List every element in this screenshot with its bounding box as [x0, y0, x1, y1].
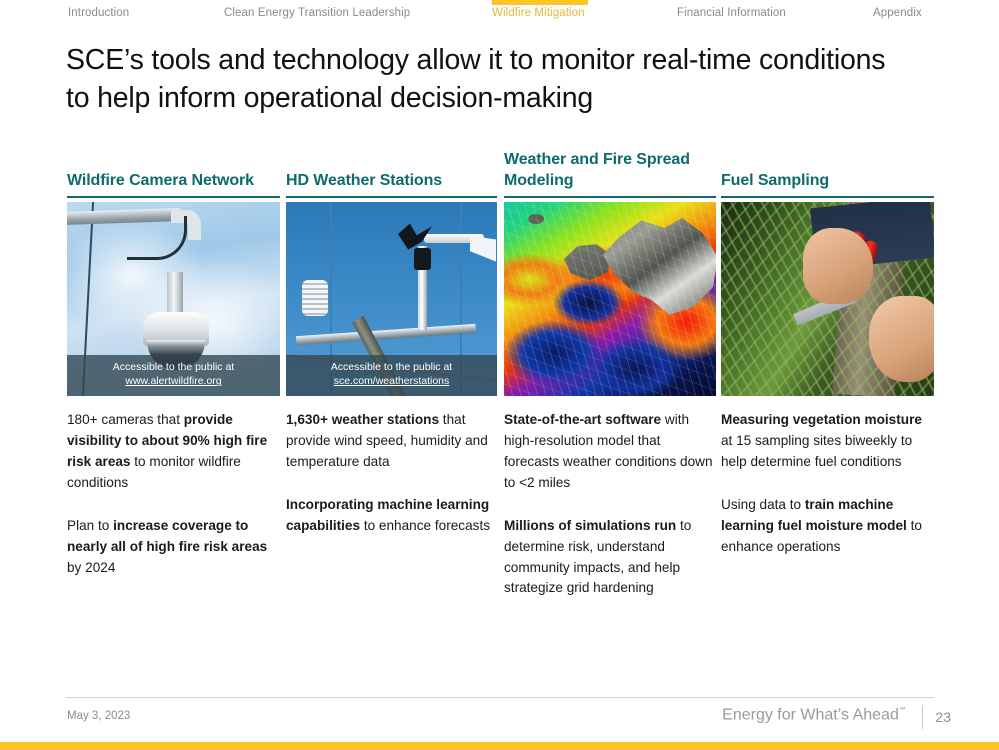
wind-vector-overlay — [504, 202, 716, 396]
caption-prefix: Accessible to the public at — [113, 361, 234, 373]
mast-joint-shape — [414, 248, 431, 270]
column-wildfire-camera-network: Wildfire Camera Network Accessible to th… — [67, 150, 280, 396]
nav-item-appendix[interactable]: Appendix — [873, 7, 922, 19]
column-fuel-sampling: Fuel Sampling — [721, 150, 934, 396]
nav-active-indicator — [492, 0, 588, 5]
body-paragraph: Measuring vegetation moisture at 15 samp… — [721, 410, 935, 473]
body-paragraph: Using data to train machine learning fue… — [721, 495, 935, 558]
body-text-hd-weather-stations: 1,630+ weather stations that provide win… — [286, 410, 498, 537]
radiation-shield-shape — [302, 280, 328, 316]
caption-link[interactable]: sce.com/weatherstations — [288, 374, 495, 388]
plain-text: to enhance forecasts — [360, 518, 490, 533]
plain-text: at 15 sampling sites biweekly to help de… — [721, 433, 912, 469]
wildfire-camera-photo: Accessible to the public at www.alertwil… — [67, 202, 280, 396]
section-navigation: IntroductionClean Energy Transition Lead… — [0, 0, 999, 28]
page-number: 23 — [935, 709, 951, 725]
body-text-fuel-sampling: Measuring vegetation moisture at 15 samp… — [721, 410, 935, 558]
nav-item-financial-information[interactable]: Financial Information — [677, 7, 786, 19]
body-paragraph: Millions of simulations run to determine… — [504, 516, 718, 600]
caption-link[interactable]: www.alertwildfire.org — [69, 374, 278, 388]
wind-vane-tail-shape — [470, 236, 496, 262]
column-divider — [504, 196, 716, 198]
body-paragraph: Incorporating machine learning capabilit… — [286, 495, 498, 537]
nav-item-introduction[interactable]: Introduction — [68, 7, 129, 19]
emphasis-text: Measuring vegetation moisture — [721, 412, 922, 427]
footer-divider — [66, 697, 934, 698]
body-text-weather-and-fire-spread-modeling: State-of-the-art software with high-reso… — [504, 410, 718, 599]
footer-date: May 3, 2023 — [67, 710, 130, 722]
footer-tagline: Energy for What’s Ahead℠ — [722, 706, 907, 724]
column-heading: Weather and Fire Spread Modeling — [504, 150, 716, 194]
body-paragraph: State-of-the-art software with high-reso… — [504, 410, 718, 494]
plain-text: Plan to — [67, 518, 113, 533]
footer-tagline-text: Energy for What’s Ahead — [722, 706, 899, 723]
caption-prefix: Accessible to the public at — [331, 361, 452, 373]
hand-shape — [869, 296, 934, 382]
plain-text: Using data to — [721, 497, 805, 512]
crossarm-shape — [296, 323, 476, 345]
column-divider — [286, 196, 497, 198]
image-caption: Accessible to the public at sce.com/weat… — [286, 355, 497, 395]
footer-separator — [922, 705, 923, 729]
plain-text: 180+ cameras that — [67, 412, 184, 427]
column-heading: Fuel Sampling — [721, 150, 934, 194]
fuel-sampling-photo — [721, 202, 934, 396]
bottom-accent-bar — [0, 742, 999, 750]
hand-shape — [803, 228, 873, 304]
column-heading: HD Weather Stations — [286, 150, 497, 194]
body-paragraph: Plan to increase coverage to nearly all … — [67, 516, 281, 579]
hd-weather-station-photo: Accessible to the public at sce.com/weat… — [286, 202, 497, 396]
page-title: SCE’s tools and technology allow it to m… — [66, 42, 906, 118]
emphasis-text: Millions of simulations run — [504, 518, 676, 533]
column-divider — [721, 196, 934, 198]
emphasis-text: State-of-the-art software — [504, 412, 661, 427]
image-caption: Accessible to the public at www.alertwil… — [67, 355, 280, 395]
camera-neck-shape — [167, 272, 183, 318]
nav-item-wildfire-mitigation[interactable]: Wildfire Mitigation — [492, 7, 585, 19]
column-hd-weather-stations: HD Weather Stations Accessible to the pu… — [286, 150, 497, 396]
plain-text: by 2024 — [67, 560, 115, 575]
column-weather-and-fire-spread-modeling: Weather and Fire Spread Modeling — [504, 150, 716, 396]
body-paragraph: 1,630+ weather stations that provide win… — [286, 410, 498, 473]
nav-item-clean-energy-transition-leadership[interactable]: Clean Energy Transition Leadership — [224, 7, 410, 19]
body-text-wildfire-camera-network: 180+ cameras that provide visibility to … — [67, 410, 281, 578]
column-divider — [67, 196, 280, 198]
column-heading: Wildfire Camera Network — [67, 150, 280, 194]
footer-tagline-mark: ℠ — [899, 706, 907, 715]
slide: IntroductionClean Energy Transition Lead… — [0, 0, 999, 750]
emphasis-text: 1,630+ weather stations — [286, 412, 439, 427]
body-paragraph: 180+ cameras that provide visibility to … — [67, 410, 281, 494]
fire-spread-model-photo — [504, 202, 716, 396]
